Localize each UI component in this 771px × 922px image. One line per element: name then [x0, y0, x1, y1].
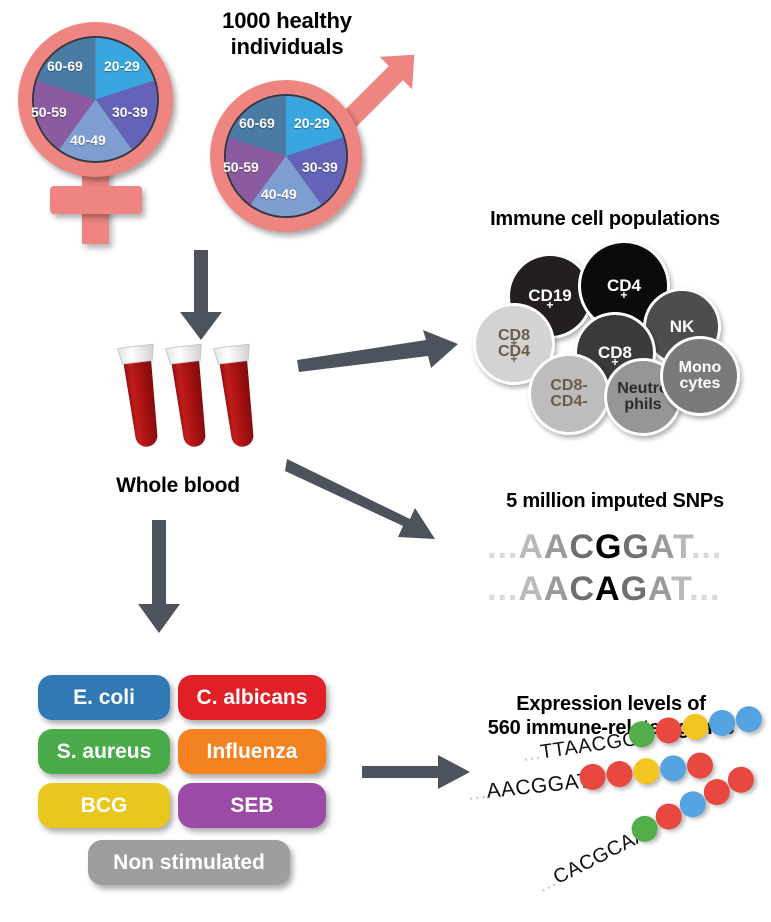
- expression-bead: [707, 708, 736, 737]
- expression-bead: [659, 754, 688, 783]
- expression-bead: [734, 704, 763, 733]
- expression-bead: [632, 757, 661, 786]
- expression-bead: [579, 762, 608, 791]
- expression-bead: [686, 751, 715, 780]
- expression-bead: [606, 759, 635, 788]
- expression-strand-sequence: ...AACGGAT: [466, 769, 591, 806]
- expression-bead: [654, 716, 683, 745]
- expression-strands: ...TTAACGG...AACGGAT...CACGCAA: [0, 0, 771, 922]
- expression-bead: [681, 712, 710, 741]
- figure-canvas: 1000 healthy individuals 20-29 30-39 40-…: [0, 0, 771, 922]
